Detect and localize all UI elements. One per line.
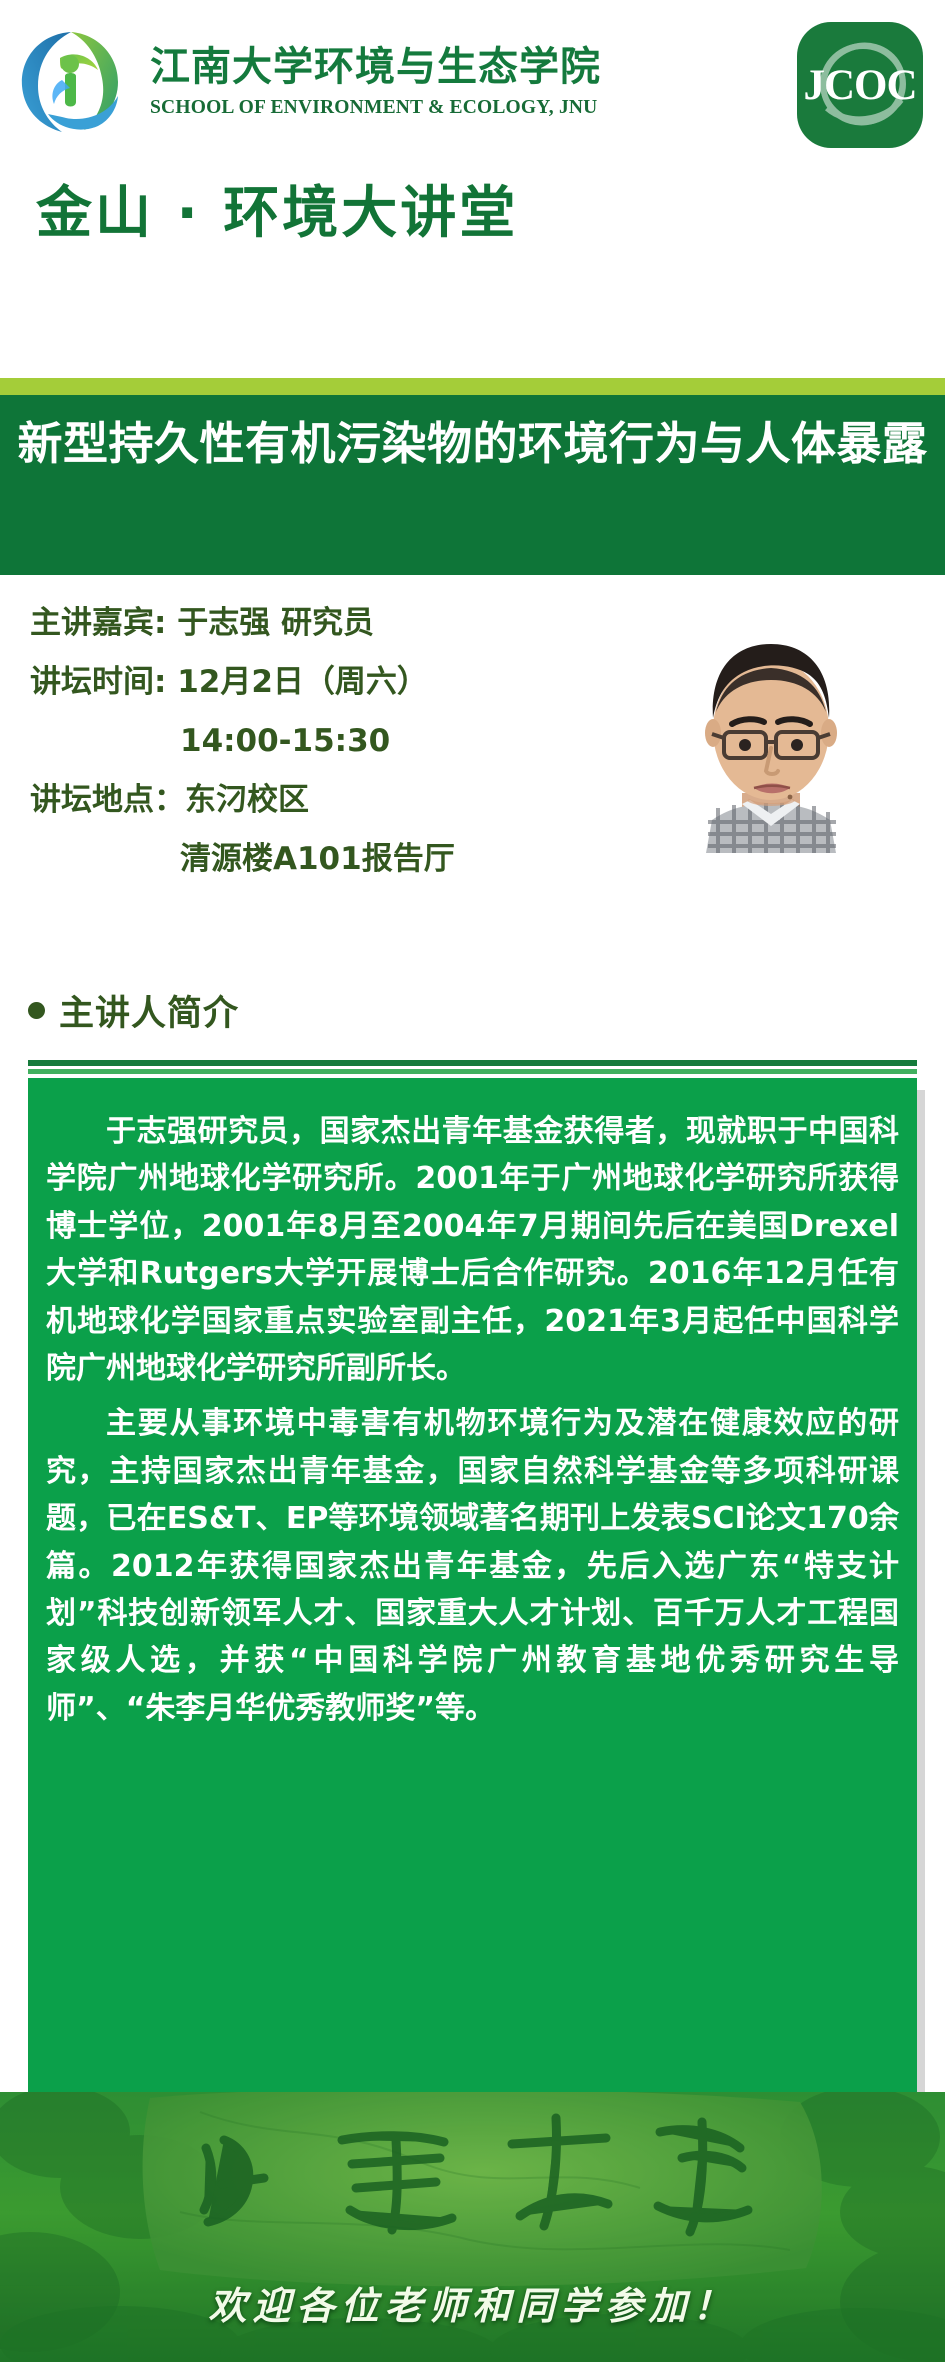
lecture-title: 新型持久性有机污染物的环境行为与人体暴露 xyxy=(8,415,937,473)
venue-line: 讲坛地点：东汈校区 xyxy=(30,785,630,816)
bio-paragraph-1: 于志强研究员，国家杰出青年基金获得者，现就职于中国科学院广州地球化学研究所。20… xyxy=(46,1108,899,1392)
school-name-cn: 江南大学环境与生态学院 xyxy=(150,44,690,90)
bio-paragraph-2: 主要从事环境中毒害有机物环境行为及潜在健康效应的研究，主持国家杰出青年基金，国家… xyxy=(46,1400,899,1732)
bio-heading-label: 主讲人简介 xyxy=(59,985,239,1036)
title-banner: 新型持久性有机污染物的环境行为与人体暴露 xyxy=(0,395,945,575)
speaker-portrait xyxy=(660,608,882,853)
school-emblem-icon xyxy=(18,28,124,138)
accent-bar xyxy=(0,378,945,395)
jcoc-badge: JCOC xyxy=(797,22,923,148)
poster-footer: 欢迎各位老师和同学参加！ xyxy=(0,2092,945,2362)
poster-header: 江南大学环境与生态学院 SCHOOL OF ENVIRONMENT & ECOL… xyxy=(0,0,945,160)
school-name-en: SCHOOL OF ENVIRONMENT & ECOLOGY, JNU xyxy=(150,97,690,119)
lecture-info-block: 主讲嘉宾: 于志强 研究员 讲坛时间: 12月2日（周六） 14:00-15:3… xyxy=(30,608,630,903)
bio-heading: 主讲人简介 xyxy=(28,985,239,1036)
venue-room-line: 清源楼A101报告厅 xyxy=(30,844,630,875)
jcoc-badge-label: JCOC xyxy=(797,22,923,148)
speaker-line: 主讲嘉宾: 于志强 研究员 xyxy=(30,608,630,639)
bullet-icon xyxy=(28,1002,45,1019)
time-line: 14:00-15:30 xyxy=(30,726,630,757)
series-title: 金山 · 环境大讲堂 xyxy=(36,168,518,249)
bio-box-shadow xyxy=(917,1090,925,2188)
bio-rule-light xyxy=(28,1069,917,1074)
lecture-poster: 江南大学环境与生态学院 SCHOOL OF ENVIRONMENT & ECOL… xyxy=(0,0,945,2362)
school-name-block: 江南大学环境与生态学院 SCHOOL OF ENVIRONMENT & ECOL… xyxy=(150,44,690,119)
welcome-text: 欢迎各位老师和同学参加！ xyxy=(0,2275,945,2330)
date-line: 讲坛时间: 12月2日（周六） xyxy=(30,667,630,698)
bio-rule-dark xyxy=(28,1060,917,1066)
bio-box: 于志强研究员，国家杰出青年基金获得者，现就职于中国科学院广州地球化学研究所。20… xyxy=(28,1078,917,2188)
